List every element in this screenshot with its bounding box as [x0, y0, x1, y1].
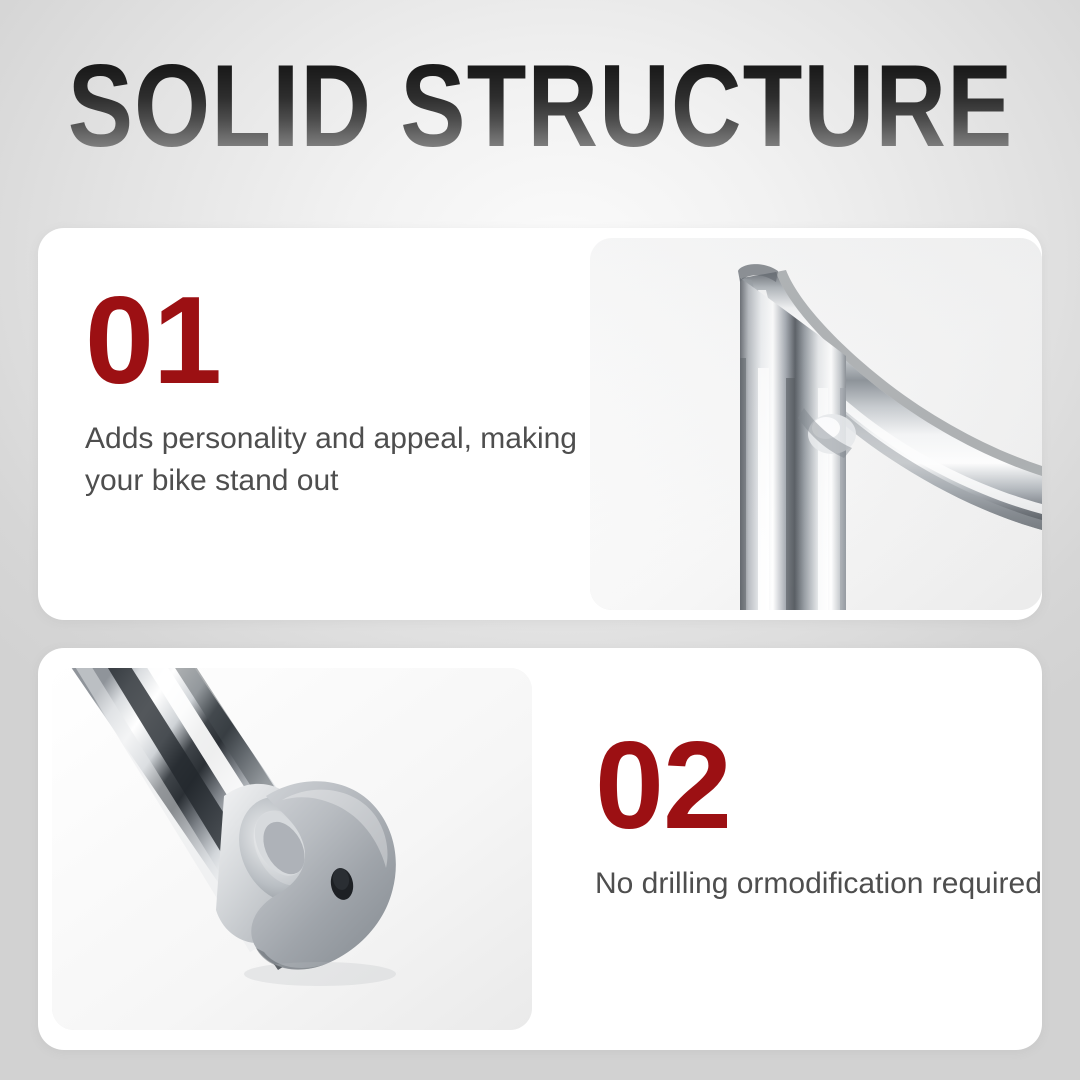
contact-shadow — [244, 962, 396, 986]
feature-text-block-02: 02 No drilling ormodification required — [595, 723, 1055, 905]
step-description-02: No drilling ormodification required — [595, 863, 1055, 905]
product-feature-page: SOLID STRUCTURE 01 Adds personality and … — [0, 0, 1080, 1080]
feature-card-02: 02 No drilling ormodification required — [38, 648, 1042, 1050]
feature-card-01: 01 Adds personality and appeal, making y… — [38, 228, 1042, 620]
chrome-tube-bracket-illustration — [52, 668, 532, 1030]
product-photo-bracket — [52, 668, 532, 1030]
step-number-02: 02 — [595, 723, 1055, 849]
product-photo-bent-tube — [590, 238, 1042, 610]
bent-chrome-tube-illustration — [590, 238, 1042, 610]
page-title-container: SOLID STRUCTURE — [0, 52, 1080, 162]
step-description-01: Adds personality and appeal, making your… — [85, 418, 585, 502]
page-title: SOLID STRUCTURE — [67, 48, 1013, 165]
step-number-01: 01 — [85, 278, 585, 404]
feature-text-block-01: 01 Adds personality and appeal, making y… — [85, 278, 585, 502]
